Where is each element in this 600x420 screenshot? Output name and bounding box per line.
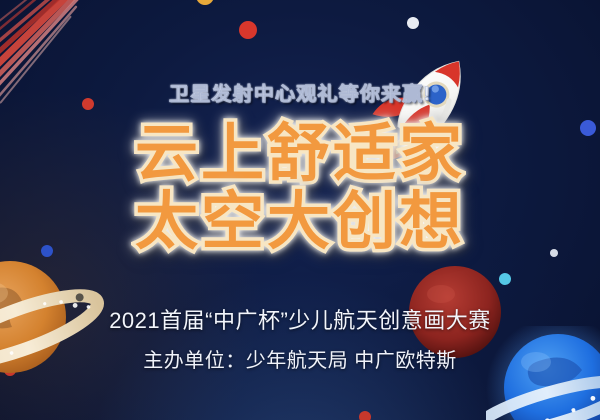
poster-text-content: 卫星发射中心观礼等你来赢! 云上舒适家 太空大创想 2021首届“中广杯”少儿航… <box>0 0 600 420</box>
organizer-line: 主办单位：少年航天局 中广欧特斯 <box>0 344 600 373</box>
title-line-2: 太空大创想 <box>0 192 600 254</box>
poster-title: 云上舒适家 太空大创想 <box>0 124 600 253</box>
subtitle: 2021首届“中广杯”少儿航天创意画大赛 <box>0 303 600 335</box>
title-line-1: 云上舒适家 <box>0 124 600 186</box>
poster-canvas: 卫星发射中心观礼等你来赢! 云上舒适家 太空大创想 2021首届“中广杯”少儿航… <box>0 0 600 420</box>
tagline: 卫星发射中心观礼等你来赢! <box>0 79 600 106</box>
